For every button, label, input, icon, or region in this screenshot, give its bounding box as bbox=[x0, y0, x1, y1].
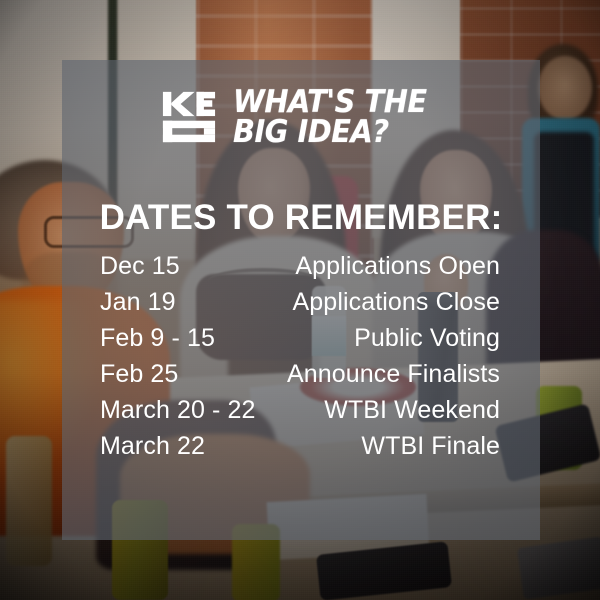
brand-lockup: WHAT'S THE BIG IDEA? bbox=[62, 78, 540, 156]
schedule-row: Feb 25 Announce Finalists bbox=[100, 360, 500, 396]
kec-logo-icon bbox=[161, 90, 217, 144]
schedule-date: March 20 - 22 bbox=[100, 396, 256, 425]
brand-tagline-line2: BIG IDEA? bbox=[233, 119, 427, 146]
schedule-date: March 22 bbox=[100, 432, 205, 461]
schedule-date: Feb 9 - 15 bbox=[100, 324, 215, 353]
schedule-event: Announce Finalists bbox=[287, 360, 500, 389]
schedule-list: Dec 15 Applications Open Jan 19 Applicat… bbox=[100, 252, 500, 468]
schedule-row: March 20 - 22 WTBI Weekend bbox=[100, 396, 500, 432]
schedule-row: Dec 15 Applications Open bbox=[100, 252, 500, 288]
schedule-event: Applications Open bbox=[295, 252, 500, 281]
brand-tagline: WHAT'S THE BIG IDEA? bbox=[233, 89, 441, 145]
poster-content: WHAT'S THE BIG IDEA? DATES TO REMEMBER: … bbox=[0, 0, 600, 600]
schedule-date: Jan 19 bbox=[100, 288, 176, 317]
schedule-date: Feb 25 bbox=[100, 360, 178, 389]
schedule-event: WTBI Finale bbox=[361, 432, 500, 461]
schedule-row: Jan 19 Applications Close bbox=[100, 288, 500, 324]
brand-tagline-line1: WHAT'S THE bbox=[233, 89, 427, 116]
schedule-event: WTBI Weekend bbox=[324, 396, 500, 425]
schedule-event: Applications Close bbox=[293, 288, 500, 317]
schedule-row: March 22 WTBI Finale bbox=[100, 432, 500, 468]
poster: WHAT'S THE BIG IDEA? DATES TO REMEMBER: … bbox=[0, 0, 600, 600]
schedule-event: Public Voting bbox=[354, 324, 500, 353]
page-title: DATES TO REMEMBER: bbox=[62, 198, 540, 238]
schedule-date: Dec 15 bbox=[100, 252, 180, 281]
schedule-row: Feb 9 - 15 Public Voting bbox=[100, 324, 500, 360]
